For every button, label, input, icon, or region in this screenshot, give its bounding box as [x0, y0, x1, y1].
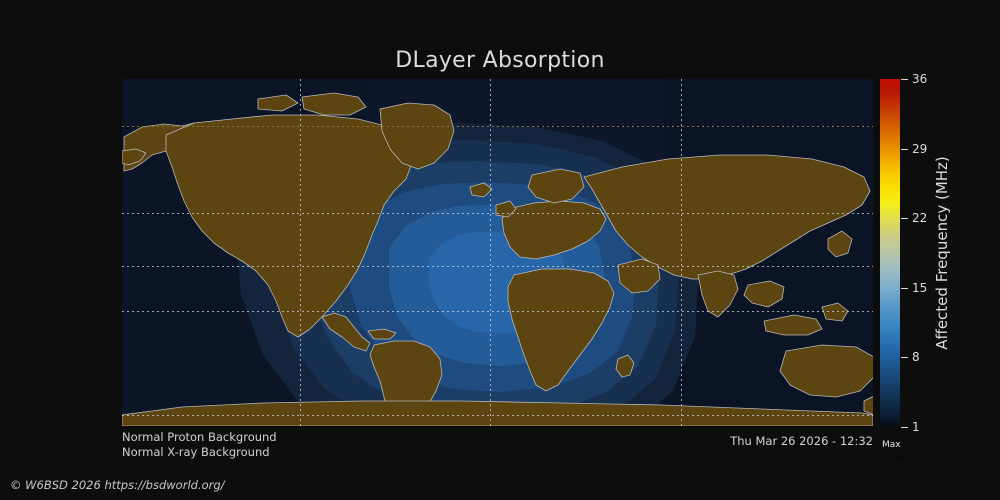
landmass-arctic-islands	[302, 93, 366, 115]
max-marker-label: Max	[882, 440, 901, 450]
colorbar-tick-label: 1	[912, 420, 920, 434]
grid-line-longitude	[681, 79, 682, 426]
arrow-right-icon	[882, 453, 908, 462]
grid-line-latitude	[122, 213, 873, 214]
landmass-victoria-island	[258, 95, 298, 111]
colorbar-tick-label: 8	[912, 350, 920, 364]
landmass-australia	[780, 345, 873, 397]
grid-line-latitude	[122, 266, 873, 267]
landmass-arabia	[618, 259, 660, 293]
colorbar-tick-label: 15	[912, 281, 927, 295]
status-xray-background: Normal X-ray Background	[122, 445, 270, 459]
landmass-antarctica	[122, 401, 873, 426]
colorbar-tick	[901, 357, 908, 358]
landmass-asia	[584, 155, 870, 279]
landmass-japan	[828, 231, 852, 257]
landmass-scandinavia	[528, 169, 584, 203]
copyright-notice: © W6BSD 2026 https://bsdworld.org/	[10, 478, 225, 492]
grid-line-latitude	[122, 311, 873, 312]
landmass-madagascar	[616, 355, 634, 377]
colorbar-axis-title: Affected Frequency (MHz)	[930, 79, 954, 427]
landmass-indonesia	[764, 315, 822, 335]
grid-line-longitude	[490, 79, 491, 426]
landmass-central-america	[322, 313, 370, 351]
world-map	[122, 79, 873, 426]
colorbar-axis-title-text: Affected Frequency (MHz)	[933, 156, 951, 350]
landmass-indochina	[744, 281, 784, 307]
colorbar-tick-label: 29	[912, 142, 927, 156]
page-title: DLayer Absorption	[0, 48, 1000, 73]
colorbar-tick	[901, 218, 908, 219]
colorbar-tick-label: 36	[912, 72, 927, 86]
grid-line-latitude	[122, 415, 873, 416]
colorbar-tick	[901, 427, 908, 428]
landmass-africa	[508, 269, 614, 391]
max-marker: Max	[880, 440, 924, 466]
dlayer-absorption-plot: DLayer Absorption	[0, 0, 1000, 500]
colorbar: 36 29 22 15 8 1 Max	[880, 79, 900, 427]
grid-line-latitude	[122, 126, 873, 127]
coastline-svg	[122, 79, 873, 426]
landmass-new-zealand	[864, 395, 873, 415]
colorbar-gradient	[880, 79, 900, 427]
colorbar-tick-label: 22	[912, 211, 927, 225]
landmass-iceland	[470, 183, 492, 197]
colorbar-tick	[901, 288, 908, 289]
grid-line-longitude	[300, 79, 301, 426]
landmass-europe	[502, 201, 606, 259]
status-proton-background: Normal Proton Background	[122, 430, 277, 444]
landmass-caribbean	[368, 329, 396, 339]
land-masses	[122, 79, 873, 426]
timestamp: Thu Mar 26 2026 - 12:32	[730, 434, 873, 448]
landmass-philippines	[822, 303, 848, 321]
colorbar-tick	[901, 79, 908, 80]
colorbar-tick	[901, 149, 908, 150]
landmass-north-america	[166, 115, 412, 337]
